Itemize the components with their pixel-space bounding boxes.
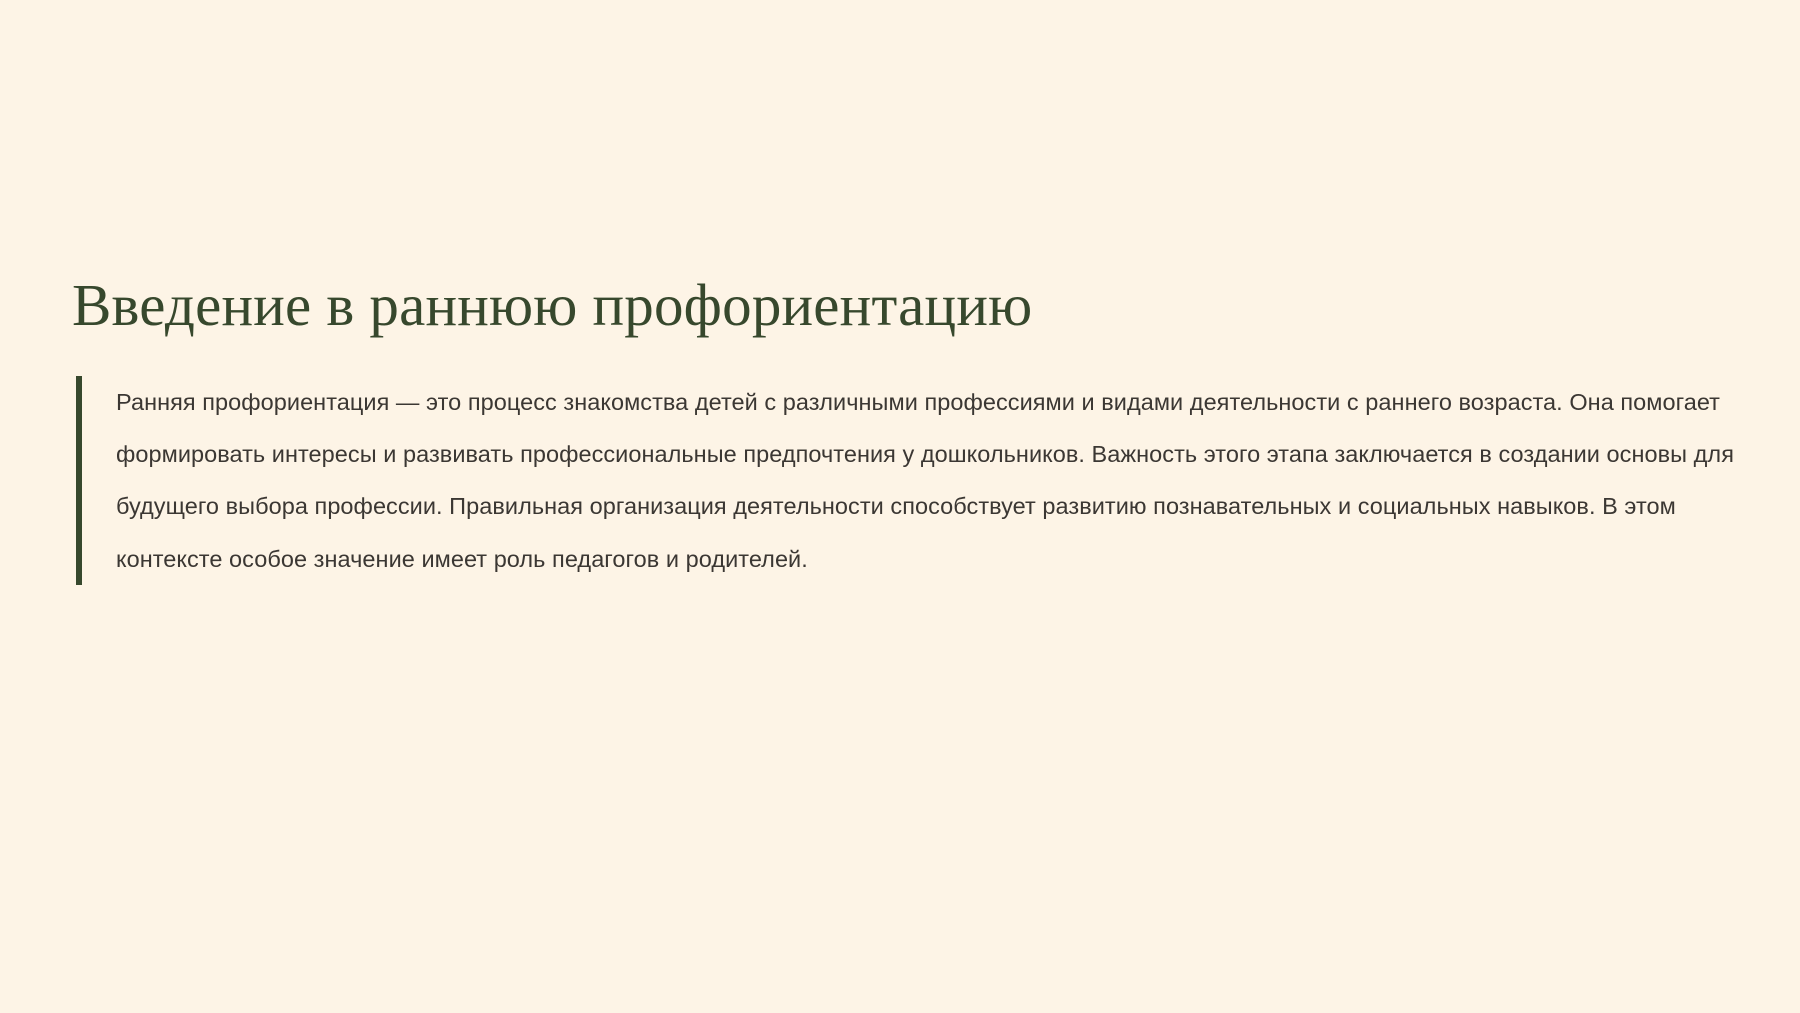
- accent-bar: [76, 376, 82, 585]
- page-title: Введение в раннюю профориентацию: [72, 272, 1752, 338]
- slide-root: Введение в раннюю профориентацию Ранняя …: [0, 0, 1800, 1013]
- body-block: Ранняя профориентация — это процесс знак…: [72, 376, 1762, 585]
- body-paragraph: Ранняя профориентация — это процесс знак…: [116, 376, 1756, 585]
- slide-content: Введение в раннюю профориентацию Ранняя …: [72, 272, 1752, 585]
